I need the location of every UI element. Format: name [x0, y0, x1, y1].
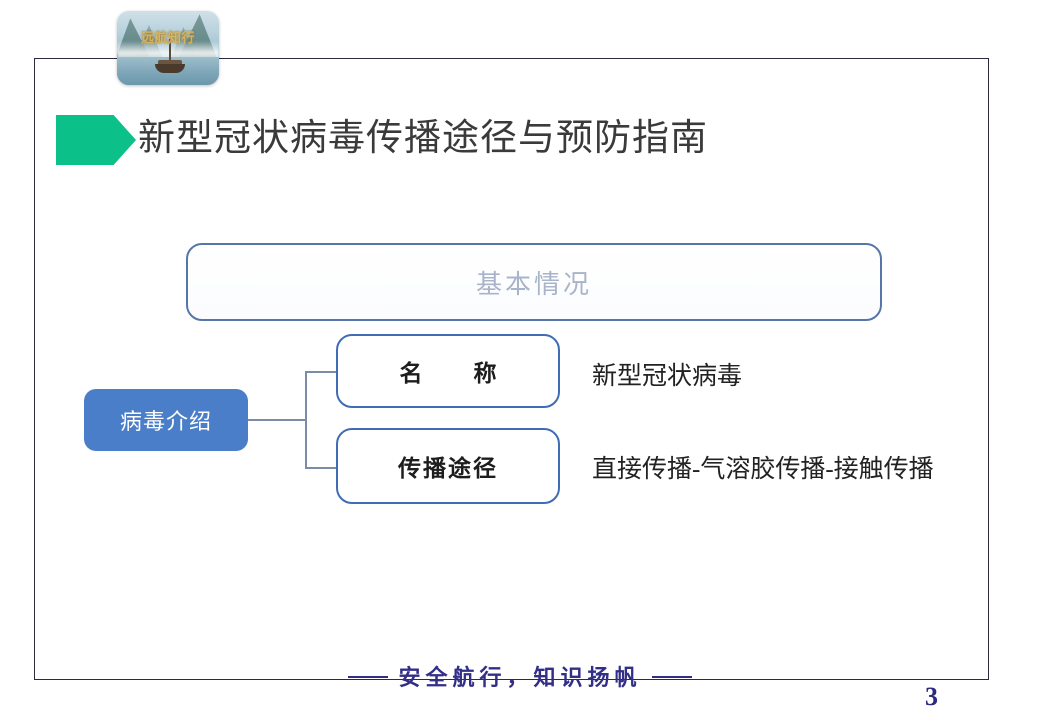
diagram-node-virus-intro-label: 病毒介绍: [120, 404, 212, 436]
diagram-value-name: 新型冠状病毒: [592, 356, 742, 392]
connector-spine: [305, 371, 307, 469]
footer-slogan-text: 安全航行，知识扬帆: [398, 665, 641, 690]
page-number: 3: [925, 682, 938, 712]
footer-slogan: 安全航行，知识扬帆: [0, 660, 1040, 692]
diagram-node-name[interactable]: 名 称: [336, 334, 560, 408]
diagram-node-route[interactable]: 传播途径: [336, 428, 560, 504]
logo-overlay-text: 远航知行: [117, 27, 219, 46]
connector-branch-name: [305, 371, 338, 373]
diagram-value-route: 直接传播-气溶胶传播-接触传播: [592, 449, 934, 485]
connector-stem: [248, 419, 306, 421]
boat-hull: [155, 64, 185, 73]
diagram-node-overview[interactable]: 基本情况: [186, 243, 882, 321]
diagram-node-name-label: 名 称: [386, 354, 511, 388]
footer-rule-left: [348, 676, 388, 678]
diagram-node-route-label: 传播途径: [398, 449, 498, 483]
diagram-node-virus-intro[interactable]: 病毒介绍: [84, 389, 248, 451]
diagram-canvas: 基本情况 病毒介绍 名 称 传播途径 新型冠状病毒 直接传播-气溶胶传播-接触传…: [0, 0, 1040, 720]
connector-branch-route: [305, 467, 338, 469]
brand-logo: 远航知行: [117, 11, 219, 85]
diagram-node-overview-label: 基本情况: [476, 264, 592, 301]
footer-rule-right: [652, 676, 692, 678]
logo-artwork: [117, 11, 219, 85]
